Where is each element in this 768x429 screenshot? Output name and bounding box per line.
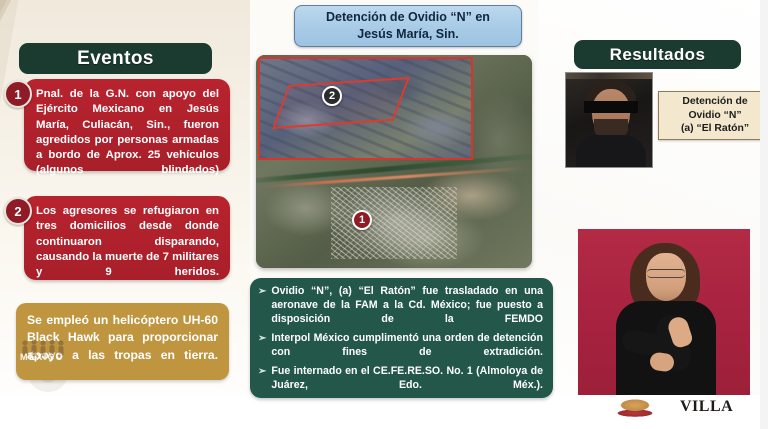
map-marker-2[interactable]: 2	[322, 86, 342, 106]
slide-title-line1: Detención de Ovidio “N” en	[326, 9, 490, 26]
slide-canvas: Detención de Ovidio “N” en Jesús María, …	[0, 0, 768, 429]
map-inset-panel	[258, 57, 473, 160]
bread-logo-icon	[612, 396, 658, 418]
bullet-arrow-icon: ➢	[258, 285, 266, 299]
sign-language-interpreter-video	[578, 229, 750, 395]
result-item-3-text: Fue internado en el CE.FE.RE.SO. No. 1 (…	[271, 365, 543, 393]
photo-torso	[576, 135, 646, 168]
result-item-2-text: Interpol México cumplimentó una orden de…	[271, 332, 543, 360]
sponsor-logo-text: VILLA	[680, 398, 733, 416]
satellite-map[interactable]: 2 1	[256, 55, 532, 268]
map-marker-1[interactable]: 1	[352, 210, 372, 230]
result-item-1-text: Ovidio “N”, (a) “El Ratón” fue trasladad…	[271, 285, 543, 327]
map-town-cluster	[331, 187, 458, 259]
event-card-2: Los agresores se refugiaron en tres domi…	[24, 196, 230, 280]
event-badge-1: 1	[4, 80, 32, 108]
section-header-eventos: Eventos	[19, 43, 212, 74]
map-highlight-polygon	[272, 77, 410, 129]
bullet-arrow-icon: ➢	[258, 365, 266, 379]
result-item-1: ➢ Ovidio “N”, (a) “El Ratón” fue traslad…	[258, 285, 543, 327]
sponsor-logo-strip	[578, 395, 768, 421]
slide-title: Detención de Ovidio “N” en Jesús María, …	[294, 5, 522, 47]
caption-line3: (a) “El Ratón”	[681, 122, 749, 136]
event-badge-2: 2	[4, 197, 32, 225]
helicopter-note: Se empleó un helicóptero UH-60 Black Haw…	[16, 303, 229, 380]
photo-top-shelf	[566, 73, 652, 79]
event-card-1: Pnal. de la G.N. con apoyo del Ejército …	[24, 79, 230, 171]
photo-eye-censor-bar	[584, 101, 638, 113]
detainee-photo-caption: Detención de Ovidio “N” (a) “El Ratón”	[658, 91, 768, 140]
event-2-text: Los agresores se refugiaron en tres domi…	[36, 205, 219, 278]
event-1-text: Pnal. de la G.N. con apoyo del Ejército …	[36, 88, 219, 176]
results-list: ➢ Ovidio “N”, (a) “El Ratón” fue traslad…	[250, 278, 553, 398]
caption-line2: Ovidio “N”	[688, 109, 741, 123]
result-item-3: ➢ Fue internado en el CE.FE.RE.SO. No. 1…	[258, 365, 543, 393]
right-edge-artifact	[760, 0, 768, 429]
helicopter-note-text: Se empleó un helicóptero UH-60 Black Haw…	[27, 313, 218, 362]
caption-line1: Detención de	[682, 95, 747, 109]
glasses-icon	[647, 269, 685, 278]
section-header-resultados: Resultados	[574, 40, 741, 69]
slide-title-line2: Jesús María, Sin.	[326, 26, 490, 43]
detainee-photo	[565, 72, 653, 168]
result-item-2: ➢ Interpol México cumplimentó una orden …	[258, 332, 543, 360]
bullet-arrow-icon: ➢	[258, 332, 266, 346]
